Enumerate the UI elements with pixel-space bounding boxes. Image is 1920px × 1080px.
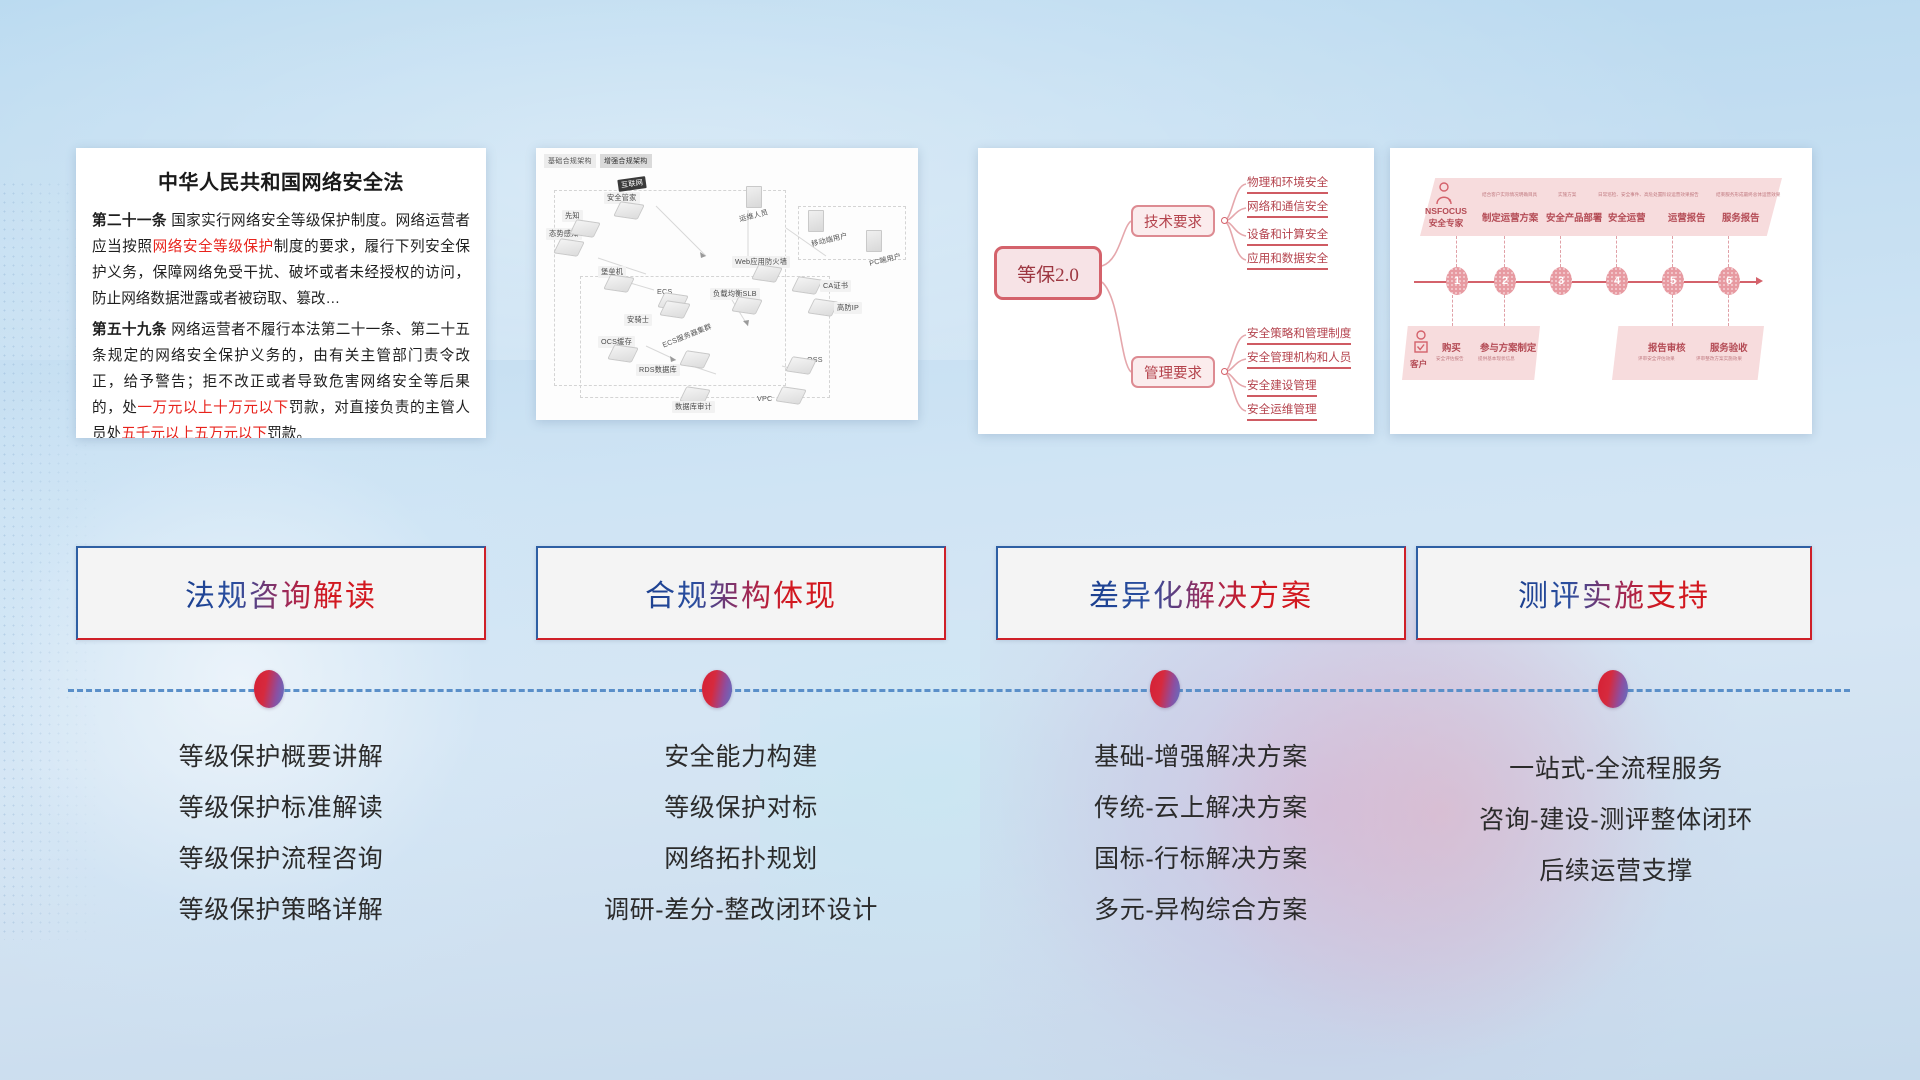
nsfocus-customer-step-main: 购买 [1442,340,1461,354]
architecture-node-waf: Web应用防火墙 [732,256,780,281]
list-item: 基础-增强解决方案 [986,732,1416,783]
detail-list-differentiated-solution: 基础-增强解决方案 传统-云上解决方案 国标-行标解决方案 多元-异构综合方案 [986,732,1416,936]
nsfocus-axis-arrow-icon [1756,277,1763,285]
nsfocus-connector [1452,295,1453,326]
list-item: 等级保护流程咨询 [76,834,486,885]
nsfocus-connector [1560,236,1561,267]
nsfocus-expert-label: 安全专家 [1425,217,1467,229]
nsfocus-connector [1504,236,1505,267]
nsfocus-step-node[interactable]: 6 [1718,267,1740,295]
timeline-dashed-line [68,689,1850,692]
card-law-text[interactable]: 中华人民共和国网络安全法 第二十一条 国家实行网络安全等级保护制度。网络运营者应… [76,148,486,438]
architecture-node-slb: 负载均衡SLB [710,288,760,313]
category-button-compliance-architecture[interactable]: 合规架构体现 [536,546,946,640]
nsfocus-connector [1616,236,1617,267]
architecture-node-ops-staff: 运维人员 [736,186,762,208]
expert-person-icon [1434,182,1454,206]
customer-person-icon [1412,330,1430,356]
nsfocus-step-sub: 实施方案 [1558,192,1576,198]
list-item: 等级保护概要讲解 [76,732,486,783]
timeline [0,668,1920,712]
nsfocus-step-sub: 阶段运营效果报告 [1662,192,1699,198]
law-run-highlight: 五千元以上五万元以下 [121,426,267,438]
nsfocus-customer-step-sub: 安全评估报告 [1436,356,1464,362]
list-item: 传统-云上解决方案 [986,783,1416,834]
nsfocus-step-node[interactable]: 4 [1606,267,1628,295]
architecture-node-label: 安骑士 [624,314,652,326]
mindmap-leaf: 网络和通信安全 [1247,198,1328,218]
nsfocus-step-node[interactable]: 3 [1550,267,1572,295]
category-button-label: 差异化解决方案 [1089,571,1313,615]
mindmap-leaf: 安全管理机构和人员 [1247,349,1351,369]
nsfocus-step-node[interactable]: 1 [1446,267,1468,295]
nsfocus-step-main: 安全运营 [1608,210,1646,224]
architecture-node-mobile-user: 移动端用户 [808,210,824,232]
detail-list-regulation-consulting: 等级保护概要讲解 等级保护标准解读 等级保护流程咨询 等级保护策略详解 [76,732,486,936]
nsfocus-step-main: 运营报告 [1668,210,1706,224]
nsfocus-customer-step-main: 服务验收 [1710,340,1748,354]
law-run-highlight: 网络安全等级保护 [153,239,274,255]
nsfocus-step-main: 制定运营方案 [1482,210,1538,224]
law-run-highlight: 一万元以上十万元以下 [137,400,288,416]
architecture-node-bastion: 堡垒机 [598,266,632,291]
nsfocus-step-sub: 日常巡检、安全事件、高危处置 [1598,192,1662,198]
mindmap-leaf: 安全建设管理 [1247,377,1317,397]
nsfocus-connector [1504,295,1505,326]
nsfocus-customer-label: 客户 [1410,358,1427,370]
detail-list-row: 等级保护概要讲解 等级保护标准解读 等级保护流程咨询 等级保护策略详解 安全能力… [0,732,1920,972]
mindmap-canvas: 等保2.0 技术要求 物理和环境安全 网络和通信安全 设备和计算安全 应用和数据… [978,148,1374,434]
nsfocus-connector [1728,295,1729,326]
mindmap-leaf: 安全策略和管理制度 [1247,325,1351,345]
mindmap-branch-management[interactable]: 管理要求 [1131,356,1215,388]
nsfocus-connector [1672,295,1673,326]
nsfocus-customer-step-sub: 评审整改方案实施效果 [1696,356,1742,362]
mindmap-collapse-dot-technical[interactable] [1221,217,1228,224]
architecture-node-label: 数据库审计 [672,401,715,413]
nsfocus-brand-label: NSFOCUS [1425,206,1467,216]
architecture-node-label: VPC [754,393,775,404]
mindmap-leaf: 设备和计算安全 [1247,226,1328,246]
nsfocus-canvas: NSFOCUS 安全专家 结合客户实际情况明确目具 制定运营方案 实施方案 安全… [1390,148,1812,434]
nsfocus-connector [1456,236,1457,267]
nsfocus-customer-step-main: 报告审核 [1648,340,1686,354]
nsfocus-step-node[interactable]: 2 [1494,267,1516,295]
architecture-node-label: CA证书 [820,280,851,292]
mindmap-branch-technical[interactable]: 技术要求 [1131,205,1215,237]
architecture-node-oss: OSS [786,354,814,373]
timeline-dot-4[interactable] [1598,670,1628,708]
nsfocus-step-sub: 结束服务形成最终总体运营效果 [1716,192,1780,198]
card-mindmap[interactable]: 等保2.0 技术要求 物理和环境安全 网络和通信安全 设备和计算安全 应用和数据… [978,148,1374,434]
list-item: 等级保护标准解读 [76,783,486,834]
nsfocus-step-sub: 结合客户实际情况明确目具 [1482,192,1537,198]
list-item: 安全能力构建 [526,732,956,783]
nsfocus-connector [1672,236,1673,267]
law-article-number: 第二十一条 [92,213,167,229]
list-item: 等级保护对标 [526,783,956,834]
law-article-number: 第五十九条 [92,322,167,338]
card-architecture-diagram[interactable]: 基础合规架构 增强合规架构 [536,148,918,420]
architecture-canvas: 基础合规架构 增强合规架构 [536,148,918,420]
mindmap-leaf: 安全运维管理 [1247,401,1317,421]
architecture-node-vpc: VPC [754,388,804,403]
mindmap-collapse-dot-management[interactable] [1221,368,1228,375]
list-item: 咨询-建设-测评整体闭环 [1406,795,1826,846]
law-paragraph-21: 第二十一条 国家实行网络安全等级保护制度。网络运营者应当按照网络安全等级保护制度… [92,208,470,312]
category-button-differentiated-solution[interactable]: 差异化解决方案 [996,546,1406,640]
mindmap-leaf: 物理和环境安全 [1247,174,1328,194]
list-item: 国标-行标解决方案 [986,834,1416,885]
category-button-label: 合规架构体现 [645,571,837,615]
architecture-node-db-audit: 数据库审计 [672,388,708,403]
nsfocus-step-main: 服务报告 [1722,210,1760,224]
list-item: 等级保护策略详解 [76,885,486,936]
law-run-text: 罚款。 [267,426,311,438]
category-button-label: 法规咨询解读 [185,571,377,615]
list-item: 调研-差分-整改闭环设计 [526,885,956,936]
architecture-node-rds: RDS数据库 [636,364,708,367]
timeline-dot-3[interactable] [1150,670,1180,708]
architecture-node-label: RDS数据库 [636,364,680,376]
list-item: 后续运营支撑 [1406,846,1826,897]
list-item: 多元-异构综合方案 [986,885,1416,936]
category-button-row: 法规咨询解读 合规架构体现 差异化解决方案 测评实施支持 [0,546,1920,644]
architecture-node-prophet: 先知 [562,210,598,236]
nsfocus-connector [1728,236,1729,267]
architecture-node-anti-ddos: 高防IP [808,300,836,315]
architecture-connectors [536,148,918,420]
nsfocus-step-main: 安全产品部署 [1546,210,1602,224]
law-title: 中华人民共和国网络安全法 [92,166,470,195]
nsfocus-customer-step-main: 参与方案制定 [1480,340,1536,354]
architecture-node-label: 高防IP [834,302,862,314]
detail-list-assessment-support: 一站式-全流程服务 咨询-建设-测评整体闭环 后续运营支撑 [1406,744,1826,897]
card-row: 中华人民共和国网络安全法 第二十一条 国家实行网络安全等级保护制度。网络运营者应… [0,148,1920,438]
nsfocus-step-node[interactable]: 5 [1662,267,1684,295]
mindmap-leaf: 应用和数据安全 [1247,250,1328,270]
architecture-node-ca: CA证书 [792,278,820,293]
nsfocus-customer-step-sub: 提供基本现状信息 [1478,356,1515,362]
architecture-node-security-butler: 安全管家 [604,192,642,218]
card-nsfocus-timeline[interactable]: NSFOCUS 安全专家 结合客户实际情况明确目具 制定运营方案 实施方案 安全… [1390,148,1812,434]
architecture-node-agent: 安骑士 [624,314,688,317]
law-paragraph-59: 第五十九条 网络运营者不履行本法第二十一条、第二十五条规定的网络安全保护义务的，… [92,317,470,438]
architecture-node-ocs: OCS缓存 [598,336,636,361]
mindmap-root-node[interactable]: 等保2.0 [994,246,1102,300]
category-button-assessment-support[interactable]: 测评实施支持 [1416,546,1812,640]
category-button-regulation-consulting[interactable]: 法规咨询解读 [76,546,486,640]
list-item: 一站式-全流程服务 [1406,744,1826,795]
timeline-dot-2[interactable] [702,670,732,708]
detail-list-compliance-architecture: 安全能力构建 等级保护对标 网络拓扑规划 调研-差分-整改闭环设计 [526,732,956,936]
list-item: 网络拓扑规划 [526,834,956,885]
category-button-label: 测评实施支持 [1518,571,1710,615]
timeline-dot-1[interactable] [254,670,284,708]
architecture-node-pc-user: PC端用户 [866,230,882,252]
nsfocus-provider-band [1420,178,1782,236]
nsfocus-customer-step-sub: 评审安全评估效果 [1638,356,1675,362]
